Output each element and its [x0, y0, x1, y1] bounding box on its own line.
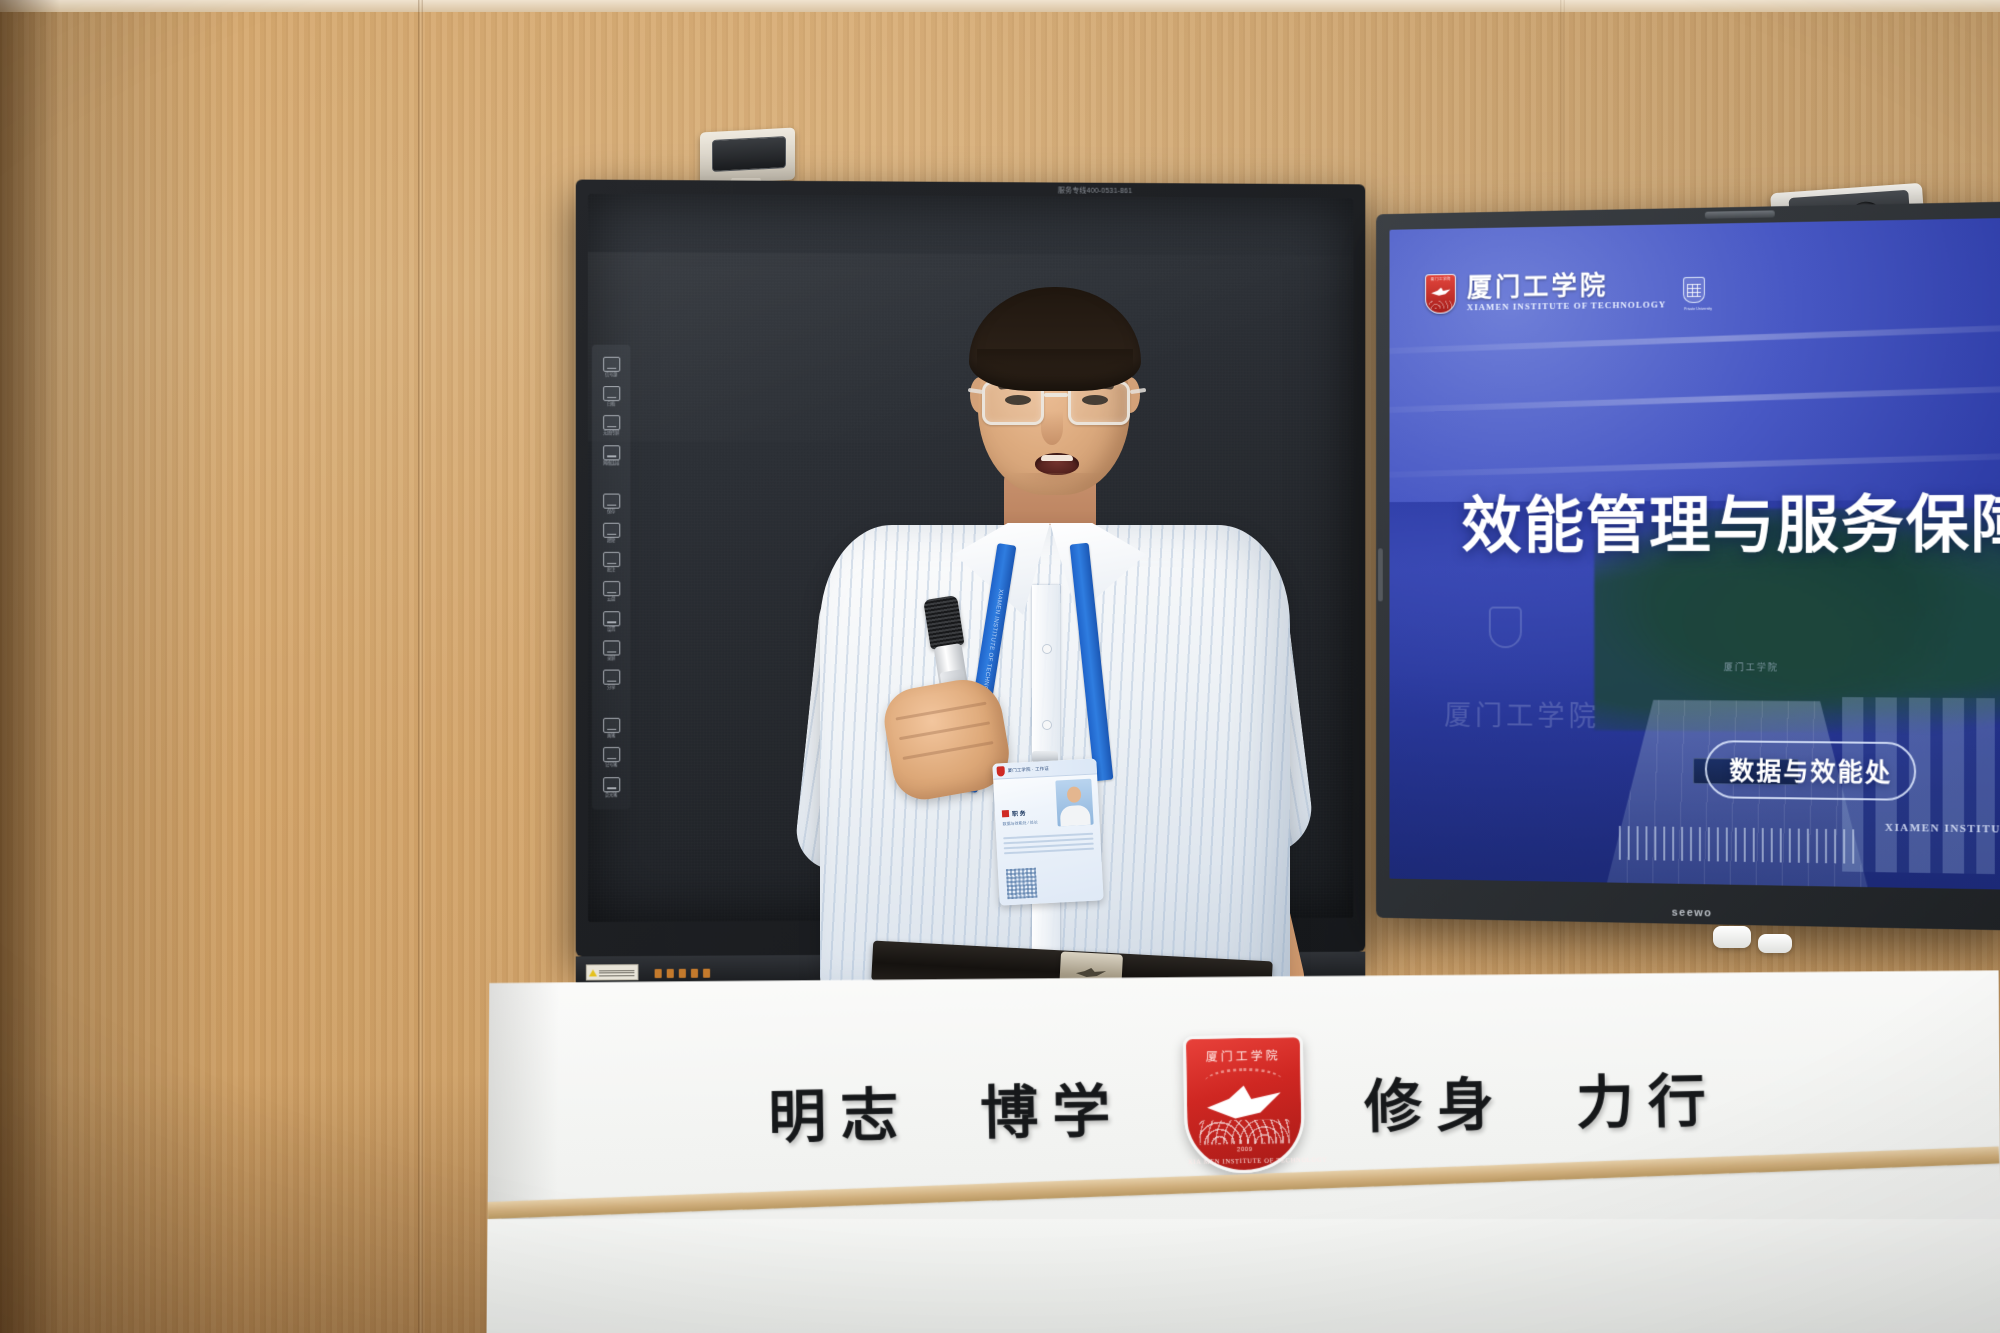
watermark-text: 厦门工学院 — [1419, 694, 1625, 735]
microphone-grille-icon — [923, 595, 964, 650]
badge-photo-body — [1060, 805, 1091, 827]
shirt-button — [1043, 645, 1051, 653]
knuckle-line — [896, 702, 987, 721]
screen-share-icon[interactable]: 无线传屏 — [597, 415, 625, 435]
presentation-slide[interactable]: 厦门工学院 厦门工学院 厦门工学院 厦门工学院 XIAMEN INSTITUTE… — [1390, 218, 2000, 890]
shirt-button — [1043, 721, 1051, 729]
safety-label — [586, 964, 639, 980]
university-shield-icon: 厦门工学院 — [1425, 274, 1456, 314]
badge-name-marker — [1002, 810, 1009, 817]
camera-lens-panel — [712, 136, 786, 172]
settings-icon[interactable]: 设置 — [597, 611, 625, 631]
toolbar-group-1[interactable]: 信号源 白板 无线传屏 网络连接 — [592, 351, 630, 472]
slide-department-badge: 数据与效能处 — [1705, 740, 1916, 801]
pen-icon[interactable]: 画笔 — [597, 718, 625, 738]
motto-word-3: 修身 — [1329, 1057, 1542, 1145]
service-hotline-label: 服务专线400-0531-861 — [1058, 186, 1132, 196]
shield-top-characters: 厦门工学院 — [1426, 277, 1455, 282]
desk-object — [1713, 926, 1751, 948]
knuckle-line — [902, 741, 993, 760]
camera-icon[interactable]: 录屏 — [597, 640, 625, 660]
secondary-shield-icon: Private University — [1683, 277, 1705, 303]
smartboard-camera-notch — [1705, 210, 1775, 218]
desk-object — [1758, 934, 1792, 953]
smartboard-brand-label: seewo — [1672, 907, 1713, 920]
presenter-hair — [969, 287, 1141, 391]
interactive-smartboard-right[interactable]: 厦门工学院 厦门工学院 厦门工学院 厦门工学院 XIAMEN INSTITUTE… — [1376, 201, 2000, 930]
badge-shield-icon — [996, 766, 1005, 776]
emblem-wave-pattern — [1199, 1119, 1289, 1145]
label-text-lines — [599, 968, 637, 976]
campus-fence — [1619, 826, 1855, 864]
toolbar-divider — [592, 471, 630, 487]
shield-wave-pattern — [1429, 301, 1452, 309]
emblem-founding-year: 2009 — [1188, 1146, 1302, 1154]
university-emblem: 厦门工学院 2009 XIA MEN INSTITUTE OF TECHNOLO… — [1183, 1034, 1305, 1174]
campus-gate-sign: 厦门工学院 — [1724, 660, 1779, 673]
presenter-mouth — [1035, 453, 1079, 475]
badge-detail-lines — [1003, 833, 1094, 858]
warning-triangle-icon — [589, 969, 597, 976]
badge-name-text: 职 务 — [1012, 808, 1026, 818]
screen-glare-band — [1390, 320, 2000, 356]
whiteboard-icon[interactable]: 白板 — [597, 386, 625, 406]
eyeglass-bridge — [1044, 393, 1068, 397]
institution-names: 厦门工学院 XIAMEN INSTITUTE OF TECHNOLOGY — [1467, 272, 1666, 312]
badge-qr-code-icon — [1006, 868, 1038, 900]
badge-photo — [1055, 779, 1093, 827]
podium-lower-panel — [487, 1219, 2000, 1333]
knuckle-line — [899, 721, 990, 740]
emblem-english-name: XIA MEN INSTITUTE OF TECHNOLOGY — [1188, 1157, 1302, 1166]
motto-word-1: 明志 — [734, 1067, 947, 1155]
badge-header-text: 厦门工学院 · 工作证 — [1008, 765, 1049, 773]
toolbar-group-3[interactable]: 画笔 记号笔 荧光笔 — [592, 712, 630, 803]
lanyard-text: XIAMEN INSTITUTE OF TECHNOLOGY — [992, 589, 1004, 625]
id-badge: 厦门工学院 · 工作证 职 务 数据与效能处 / 处长 — [992, 758, 1103, 905]
network-icon[interactable]: 网络连接 — [597, 445, 625, 465]
buckle-eagle-icon — [1076, 967, 1107, 980]
monitor-icon[interactable]: 批注 — [597, 552, 625, 572]
shield-bird-icon — [1431, 286, 1450, 297]
save-icon[interactable]: 保存 — [597, 493, 625, 513]
smartboard-side-button[interactable] — [1378, 548, 1383, 601]
institution-name-en: XIAMEN INSTITUTE OF TECHNOLOGY — [1467, 299, 1666, 312]
smartboard-control-buttons[interactable] — [655, 969, 710, 978]
slide-footer-english: XIAMEN INSTITU — [1885, 822, 2000, 836]
presentation-room-photo: BenQ 服务专线400-0531-861 信号源 白板 — [0, 0, 2000, 1333]
shield-grid-pattern — [1687, 284, 1701, 297]
badge-name-row: 职 务 — [1002, 808, 1026, 818]
slide-title: 效能管理与服务保障 — [1461, 493, 2000, 556]
smartboard-left-toolbar[interactable]: 信号源 白板 无线传屏 网络连接 — [592, 345, 630, 810]
presenter: XIAMEN INSTITUTE OF TECHNOLOGY — [760, 285, 1320, 985]
toolbar-group-2[interactable]: 保存 擦除 批注 云盘 — [592, 487, 630, 696]
ceiling-strip — [0, 0, 2000, 12]
institution-name-cn: 厦门工学院 — [1467, 272, 1666, 301]
display-icon[interactable]: 信号源 — [597, 357, 625, 377]
screen-glare-band — [1390, 449, 2000, 479]
badge-subtitle: 数据与效能处 / 处长 — [1002, 820, 1038, 828]
highlighter-icon[interactable]: 荧光笔 — [597, 777, 625, 797]
share-icon[interactable]: 分享 — [597, 670, 625, 690]
slide-watermark-logo: 厦门工学院 — [1419, 606, 1625, 791]
marker-icon[interactable]: 记号笔 — [597, 747, 625, 767]
secondary-shield-caption: Private University — [1684, 307, 1704, 311]
cloud-icon[interactable]: 云盘 — [597, 581, 625, 601]
screen-glare-band — [1390, 381, 2000, 414]
motto-word-2: 博学 — [946, 1064, 1159, 1152]
toolbar-divider — [592, 696, 630, 712]
presenter-chin-shadow — [1008, 473, 1104, 495]
watermark-shield-icon — [1489, 606, 1522, 648]
lecture-podium: 明志 博学 厦门工学院 2009 XIA MEN INSTITUTE OF TE… — [487, 970, 2000, 1333]
slide-institution-header: 厦门工学院 厦门工学院 XIAMEN INSTITUTE OF TECHNOLO… — [1425, 270, 1705, 314]
wall-camera — [700, 130, 795, 182]
eraser-icon[interactable]: 擦除 — [597, 523, 625, 543]
badge-photo-head — [1067, 786, 1082, 803]
motto-word-4: 力行 — [1541, 1053, 1755, 1141]
emblem-chinese-name: 厦门工学院 — [1186, 1046, 1300, 1065]
